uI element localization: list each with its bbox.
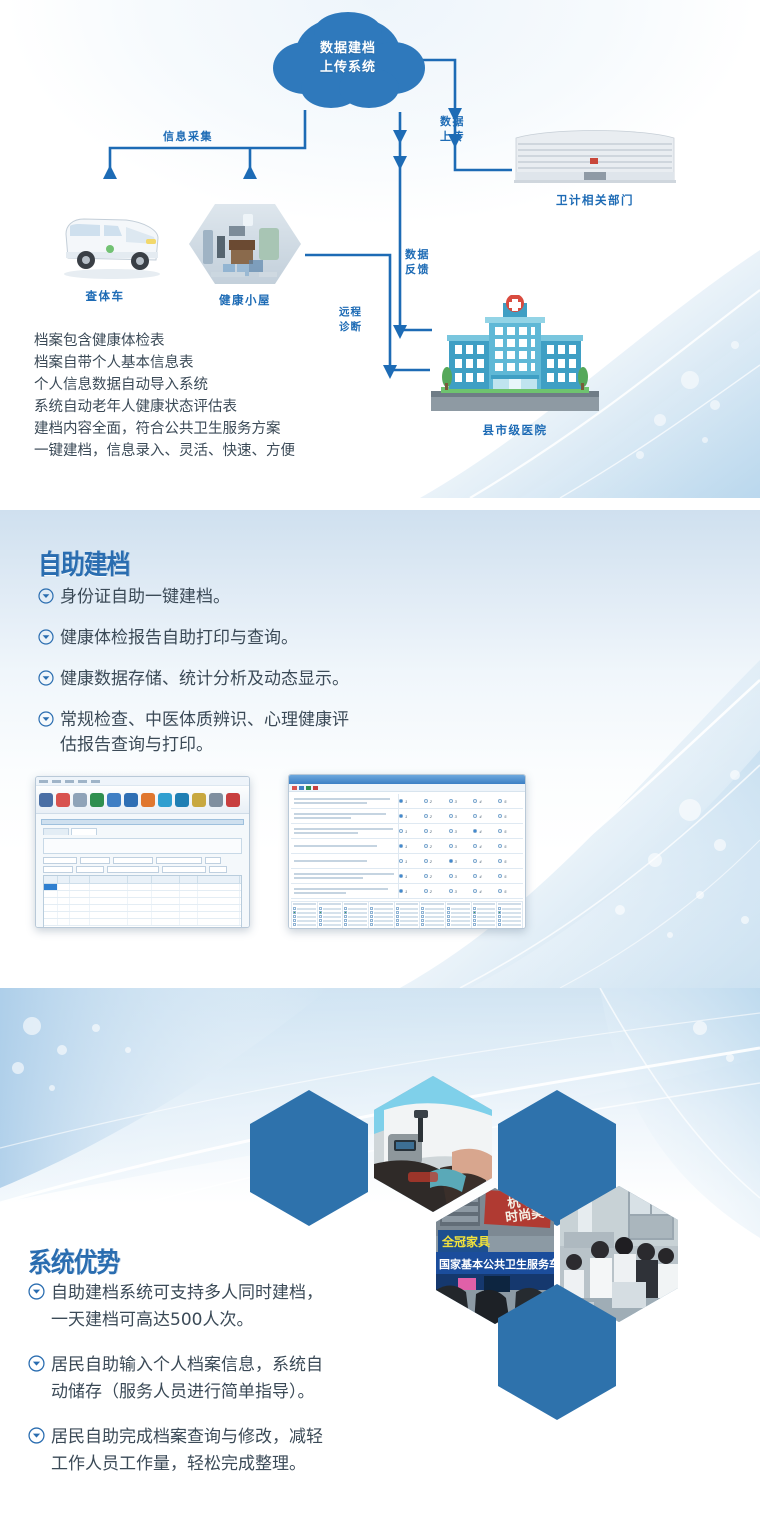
- radio-option[interactable]: 4: [473, 859, 498, 864]
- constitution-column[interactable]: [317, 901, 343, 929]
- filter-panel[interactable]: [43, 838, 242, 854]
- chevron-down-circle-icon: [28, 1283, 45, 1305]
- window-title: [406, 777, 408, 782]
- radio-option[interactable]: 1: [399, 799, 424, 804]
- radio-option[interactable]: 2: [424, 829, 449, 834]
- radio-option[interactable]: 3: [449, 844, 474, 849]
- radio-option[interactable]: 3: [449, 829, 474, 834]
- list-item-label: 身份证自助一键建档。: [60, 585, 230, 610]
- constitution-column[interactable]: [368, 901, 394, 929]
- date-input[interactable]: [113, 857, 153, 864]
- question-row[interactable]: 1 2 3 4 5: [291, 884, 523, 899]
- node-label-health-bureau: 卫计相关部门: [500, 192, 690, 208]
- radio-option[interactable]: 1: [399, 859, 424, 864]
- question-text: [291, 824, 399, 838]
- text-input[interactable]: [43, 857, 77, 864]
- checkbox-group[interactable]: [107, 866, 159, 873]
- radio-option[interactable]: 1: [399, 889, 424, 894]
- hex-photo-id-scan: [374, 1076, 492, 1212]
- radio-option[interactable]: 5: [498, 814, 523, 819]
- tab-active[interactable]: [71, 828, 97, 835]
- window-body: [36, 814, 249, 928]
- table-row[interactable]: [44, 912, 241, 919]
- cloud-node-data-archive-upload-system: 数据建档 上传系统: [263, 10, 433, 115]
- node-label-exam-van: 查体车: [60, 288, 150, 304]
- toolbar-icon[interactable]: [158, 793, 172, 807]
- radio-option[interactable]: 5: [498, 844, 523, 849]
- toolbar-icon[interactable]: [107, 793, 121, 807]
- radio-option[interactable]: 3: [449, 874, 474, 879]
- form-row[interactable]: [43, 866, 242, 873]
- node-label-health-hut: 健康小屋: [190, 292, 300, 308]
- chevron-down-circle-icon: [28, 1355, 45, 1377]
- list-item: 居民自助完成档案查询与修改，减轻 工作人员工作量，轻松完成整理。: [28, 1424, 498, 1478]
- list-item-label: 常规检查、中医体质辨识、心理健康评 估报告查询与打印。: [60, 708, 349, 758]
- table-row[interactable]: [44, 919, 241, 926]
- list-item-label: 健康数据存储、统计分析及动态显示。: [60, 667, 349, 692]
- radio-option[interactable]: 2: [424, 799, 449, 804]
- feature-item: 系统自动老年人健康状态评估表: [34, 396, 434, 418]
- chevron-down-circle-icon: [38, 670, 54, 691]
- list-item-label: 自助建档系统可支持多人同时建档， 一天建档可高达500人次。: [51, 1280, 323, 1334]
- radio-option[interactable]: 4: [473, 889, 498, 894]
- checkbox-group[interactable]: [162, 866, 206, 873]
- constitution-column[interactable]: [471, 901, 497, 929]
- svg-text:国家基本公共卫生服务车: 国家基本公共卫生服务车: [439, 1257, 554, 1271]
- radio-option[interactable]: 5: [498, 859, 523, 864]
- list-item: 身份证自助一键建档。: [38, 585, 518, 610]
- text-input[interactable]: [156, 857, 202, 864]
- radio-option[interactable]: 4: [473, 799, 498, 804]
- question-row[interactable]: 1 2 3 4 5: [291, 854, 523, 869]
- constitution-column[interactable]: [496, 901, 523, 929]
- question-text: [291, 884, 399, 898]
- list-item: 常规检查、中医体质辨识、心理健康评 估报告查询与打印。: [38, 708, 518, 758]
- radio-option[interactable]: 4: [473, 844, 498, 849]
- feature-item: 建档内容全面，符合公共卫生服务方案: [34, 418, 434, 440]
- radio-option[interactable]: 2: [424, 814, 449, 819]
- text-input[interactable]: [76, 866, 104, 873]
- hex-solid-1: [250, 1090, 368, 1226]
- self-service-bullet-list: 身份证自助一键建档。 健康体检报告自助打印与查询。 健康数据存储、统计分析及动态…: [38, 585, 518, 774]
- menu-item[interactable]: [78, 780, 87, 783]
- radio-option[interactable]: 4: [473, 814, 498, 819]
- list-item-label: 居民自助输入个人档案信息，系统自 动储存（服务人员进行简单指导）。: [51, 1352, 323, 1406]
- list-item-label: 居民自助完成档案查询与修改，减轻 工作人员工作量，轻松完成整理。: [51, 1424, 323, 1478]
- radio-option[interactable]: 3: [449, 799, 474, 804]
- question-text: [291, 854, 399, 868]
- toolbar-icon[interactable]: [313, 786, 318, 790]
- list-item: 居民自助输入个人档案信息，系统自 动储存（服务人员进行简单指导）。: [28, 1352, 498, 1406]
- radio-option[interactable]: 3: [449, 814, 474, 819]
- assessment-form[interactable]: 1 2 3 4 5 1 2 3 4 5: [289, 792, 525, 929]
- radio-option[interactable]: 1: [399, 829, 424, 834]
- mdi-child-title-bar: [41, 819, 244, 825]
- feature-list: 档案包含健康体检表 档案自带个人基本信息表 个人信息数据自动导入系统 系统自动老…: [34, 330, 434, 462]
- question-text: [291, 869, 399, 883]
- radio-options[interactable]: 1 2 3 4 5: [399, 874, 523, 879]
- section-heading-system-advantages: 系统优势: [28, 1241, 120, 1280]
- county-hospital-illustration: [425, 295, 605, 420]
- toolbar-icon[interactable]: [124, 793, 138, 807]
- data-grid[interactable]: [43, 875, 242, 928]
- toolbar-icon[interactable]: [292, 786, 297, 790]
- elderly-assessment-form-window[interactable]: 1 2 3 4 5 1 2 3 4 5: [288, 774, 526, 929]
- constitution-column[interactable]: [394, 901, 420, 929]
- question-text: [291, 794, 399, 808]
- toolbar[interactable]: [289, 784, 525, 792]
- radio-option[interactable]: 2: [424, 859, 449, 864]
- question-text: [291, 839, 399, 853]
- toolbar-icon[interactable]: [306, 786, 311, 790]
- radio-option[interactable]: 5: [498, 799, 523, 804]
- feature-item: 一键建档，信息录入、灵活、快速、方便: [34, 440, 434, 462]
- constitution-column[interactable]: [342, 901, 368, 929]
- edge-label-data-upload: 数据 上传: [440, 115, 465, 145]
- cloud-label-line2: 上传系统: [263, 57, 433, 76]
- table-row[interactable]: [44, 891, 241, 898]
- toolbar-icon[interactable]: [226, 793, 240, 807]
- exam-van-illustration: [60, 208, 165, 280]
- radio-option[interactable]: 4: [473, 829, 498, 834]
- toolbar-icon[interactable]: [90, 793, 104, 807]
- menu-item[interactable]: [65, 780, 74, 783]
- grid-header: [44, 876, 241, 884]
- list-item: 健康数据存储、统计分析及动态显示。: [38, 667, 518, 692]
- section-workflow-diagram: 数据建档 上传系统 信息采集 数据 上传 数据 反馈 远程 诊断: [0, 0, 760, 498]
- radio-options[interactable]: 1 2 3 4 5: [399, 799, 523, 804]
- toolbar-icon[interactable]: [209, 793, 223, 807]
- toolbar-icon[interactable]: [299, 786, 304, 790]
- list-item: 自助建档系统可支持多人同时建档， 一天建档可高达500人次。: [28, 1280, 498, 1334]
- section-heading-self-service: 自助建档: [38, 543, 130, 582]
- radio-options[interactable]: 1 2 3 4 5: [399, 844, 523, 849]
- cloud-label-line1: 数据建档: [263, 38, 433, 57]
- feature-item: 档案自带个人基本信息表: [34, 352, 434, 374]
- radio-options[interactable]: 1 2 3 4 5: [399, 829, 523, 834]
- toolbar-icon[interactable]: [141, 793, 155, 807]
- constitution-columns[interactable]: [291, 901, 523, 929]
- tab-strip[interactable]: [43, 828, 242, 835]
- radio-option[interactable]: 1: [399, 814, 424, 819]
- text-input[interactable]: [80, 857, 110, 864]
- node-label-county-hospital: 县市级医院: [430, 422, 600, 438]
- constitution-column[interactable]: [291, 901, 317, 929]
- svg-text:全冠家具: 全冠家具: [441, 1234, 490, 1249]
- tab[interactable]: [43, 828, 69, 835]
- radio-options[interactable]: 1 2 3 4 5: [399, 859, 523, 864]
- constitution-column[interactable]: [419, 901, 445, 929]
- menu-item[interactable]: [52, 780, 61, 783]
- radio-option[interactable]: 2: [424, 844, 449, 849]
- form-row[interactable]: [43, 857, 242, 864]
- question-row[interactable]: 1 2 3 4 5: [291, 794, 523, 809]
- edge-label-info-collect: 信息采集: [163, 130, 213, 145]
- archive-management-window[interactable]: [35, 776, 250, 928]
- health-bureau-building-photo: [510, 122, 680, 188]
- poster-page: 数据建档 上传系统 信息采集 数据 上传 数据 反馈 远程 诊断: [0, 0, 760, 1501]
- toolbar[interactable]: [36, 786, 249, 814]
- feature-item: 档案包含健康体检表: [34, 330, 434, 352]
- radio-option[interactable]: 5: [498, 889, 523, 894]
- toolbar-icon[interactable]: [39, 793, 53, 807]
- toolbar-icon[interactable]: [192, 793, 206, 807]
- chevron-down-circle-icon: [28, 1427, 45, 1449]
- chevron-down-circle-icon: [38, 629, 54, 650]
- health-hut-illustration: [185, 198, 305, 290]
- edge-label-data-feedback: 数据 反馈: [405, 248, 430, 278]
- list-item-label: 健康体检报告自助打印与查询。: [60, 626, 298, 651]
- menu-bar[interactable]: [36, 777, 249, 786]
- radio-option[interactable]: 1: [399, 844, 424, 849]
- radio-option[interactable]: 2: [424, 889, 449, 894]
- section-divider: [0, 498, 760, 510]
- action-button[interactable]: [209, 866, 227, 873]
- constitution-column[interactable]: [445, 901, 471, 929]
- search-button[interactable]: [205, 857, 221, 864]
- radio-option[interactable]: 3: [449, 889, 474, 894]
- radio-options[interactable]: 1 2 3 4 5: [399, 814, 523, 819]
- toolbar-icon[interactable]: [56, 793, 70, 807]
- feature-item: 个人信息数据自动导入系统: [34, 374, 434, 396]
- menu-item[interactable]: [91, 780, 100, 783]
- chevron-down-circle-icon: [38, 588, 54, 609]
- radio-option[interactable]: 4: [473, 874, 498, 879]
- radio-option[interactable]: 5: [498, 829, 523, 834]
- radio-option[interactable]: 3: [449, 859, 474, 864]
- window-title-bar: [289, 775, 525, 784]
- table-row[interactable]: [44, 898, 241, 905]
- radio-option[interactable]: 2: [424, 874, 449, 879]
- radio-options[interactable]: 1 2 3 4 5: [399, 889, 523, 894]
- text-input[interactable]: [43, 866, 73, 873]
- chevron-down-circle-icon: [38, 711, 54, 732]
- radio-option[interactable]: 5: [498, 874, 523, 879]
- cloud-label: 数据建档 上传系统: [263, 38, 433, 76]
- question-text: [291, 809, 399, 823]
- question-row[interactable]: 1 2 3 4 5: [291, 824, 523, 839]
- list-item: 健康体检报告自助打印与查询。: [38, 626, 518, 651]
- toolbar-icon[interactable]: [73, 793, 87, 807]
- system-advantages-bullet-list: 自助建档系统可支持多人同时建档， 一天建档可高达500人次。 居民自助输入个人档…: [28, 1280, 498, 1496]
- table-row[interactable]: [44, 884, 241, 891]
- menu-item[interactable]: [39, 780, 48, 783]
- toolbar-icon[interactable]: [175, 793, 189, 807]
- radio-option[interactable]: 1: [399, 874, 424, 879]
- table-row[interactable]: [44, 905, 241, 912]
- question-row[interactable]: 1 2 3 4 5: [291, 869, 523, 884]
- question-row[interactable]: 1 2 3 4 5: [291, 839, 523, 854]
- question-row[interactable]: 1 2 3 4 5: [291, 809, 523, 824]
